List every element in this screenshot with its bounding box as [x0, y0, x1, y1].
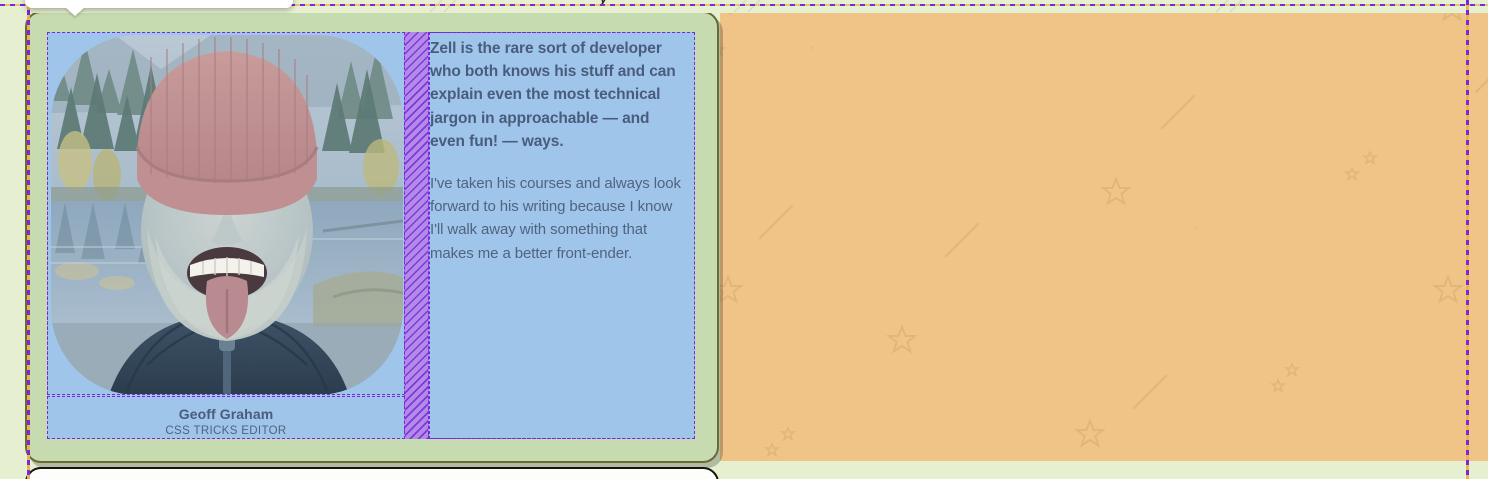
devtools-tooltip	[25, 0, 293, 8]
author-caption: Geoff Graham CSS TRICKS EDITOR	[47, 396, 405, 439]
devtools-ruler-left	[27, 0, 30, 479]
grid-track-right: Zell is the rare sort of developer who b…	[429, 32, 695, 439]
quote-lead-paragraph: Zell is the rare sort of developer who b…	[430, 37, 686, 153]
devtools-ruler-right	[1466, 0, 1469, 479]
sparkle-pattern-icon	[720, 12, 1488, 461]
author-name: Geoff Graham	[48, 406, 404, 422]
grid-track-left: Geoff Graham CSS TRICKS EDITOR	[47, 32, 405, 439]
next-card	[25, 467, 719, 479]
author-role: CSS TRICKS EDITOR	[48, 423, 404, 439]
tooltip-tail-icon	[65, 7, 85, 16]
decorative-orange-panel	[720, 12, 1488, 461]
avatar	[47, 32, 405, 395]
viewport: Geoff Graham CSS TRICKS EDITOR Zell is t…	[0, 0, 1488, 479]
avatar-photo	[51, 35, 403, 395]
devtools-grid-overlay: Geoff Graham CSS TRICKS EDITOR Zell is t…	[47, 32, 695, 439]
portrait-photo-icon	[51, 35, 403, 395]
quote-body-paragraph: I've taken his courses and always look f…	[430, 172, 686, 265]
grid-gap-overlay	[404, 32, 429, 439]
